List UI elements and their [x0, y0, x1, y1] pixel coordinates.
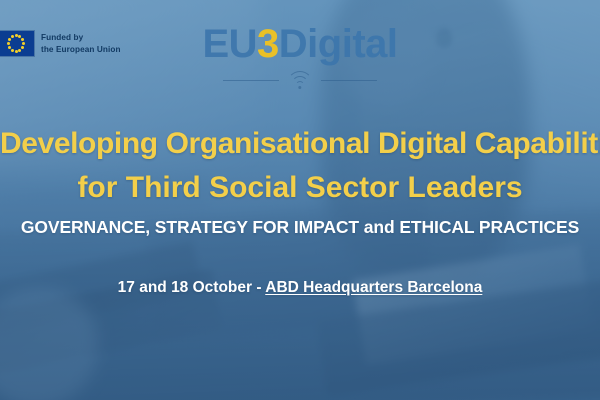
- logo-digit: 3: [257, 22, 279, 66]
- subtitle-part-2: ETHICAL PRACTICES: [395, 217, 580, 237]
- logo-mark: [0, 71, 600, 90]
- subtitle-part-1: GOVERNANCE, STRATEGY FOR IMPACT: [21, 217, 364, 237]
- headline-line-1: Developing Organisational Digital Capabi…: [0, 122, 600, 166]
- event-poster: Funded by the European Union EU3Digital …: [0, 0, 600, 400]
- logo-prefix: EU: [202, 22, 257, 66]
- event-venue: ABD Headquarters Barcelona: [265, 279, 482, 296]
- event-dates: 17 and 18 October: [118, 279, 252, 296]
- headline: Developing Organisational Digital Capabi…: [0, 122, 600, 210]
- wifi-signal-icon: [287, 71, 313, 90]
- subtitle-conjunction: and: [364, 217, 395, 237]
- logo-rule-right: [321, 80, 377, 81]
- logo-suffix: Digital: [279, 22, 398, 66]
- dateline-separator: -: [252, 279, 265, 296]
- logo-rule-left: [223, 80, 279, 81]
- logo-wordmark: EU3Digital: [0, 24, 600, 64]
- subtitle: GOVERNANCE, STRATEGY FOR IMPACT and ETHI…: [0, 217, 600, 238]
- eu3digital-logo: EU3Digital: [0, 24, 600, 90]
- dateline: 17 and 18 October - ABD Headquarters Bar…: [0, 279, 600, 297]
- headline-line-2: for Third Social Sector Leaders: [0, 166, 600, 210]
